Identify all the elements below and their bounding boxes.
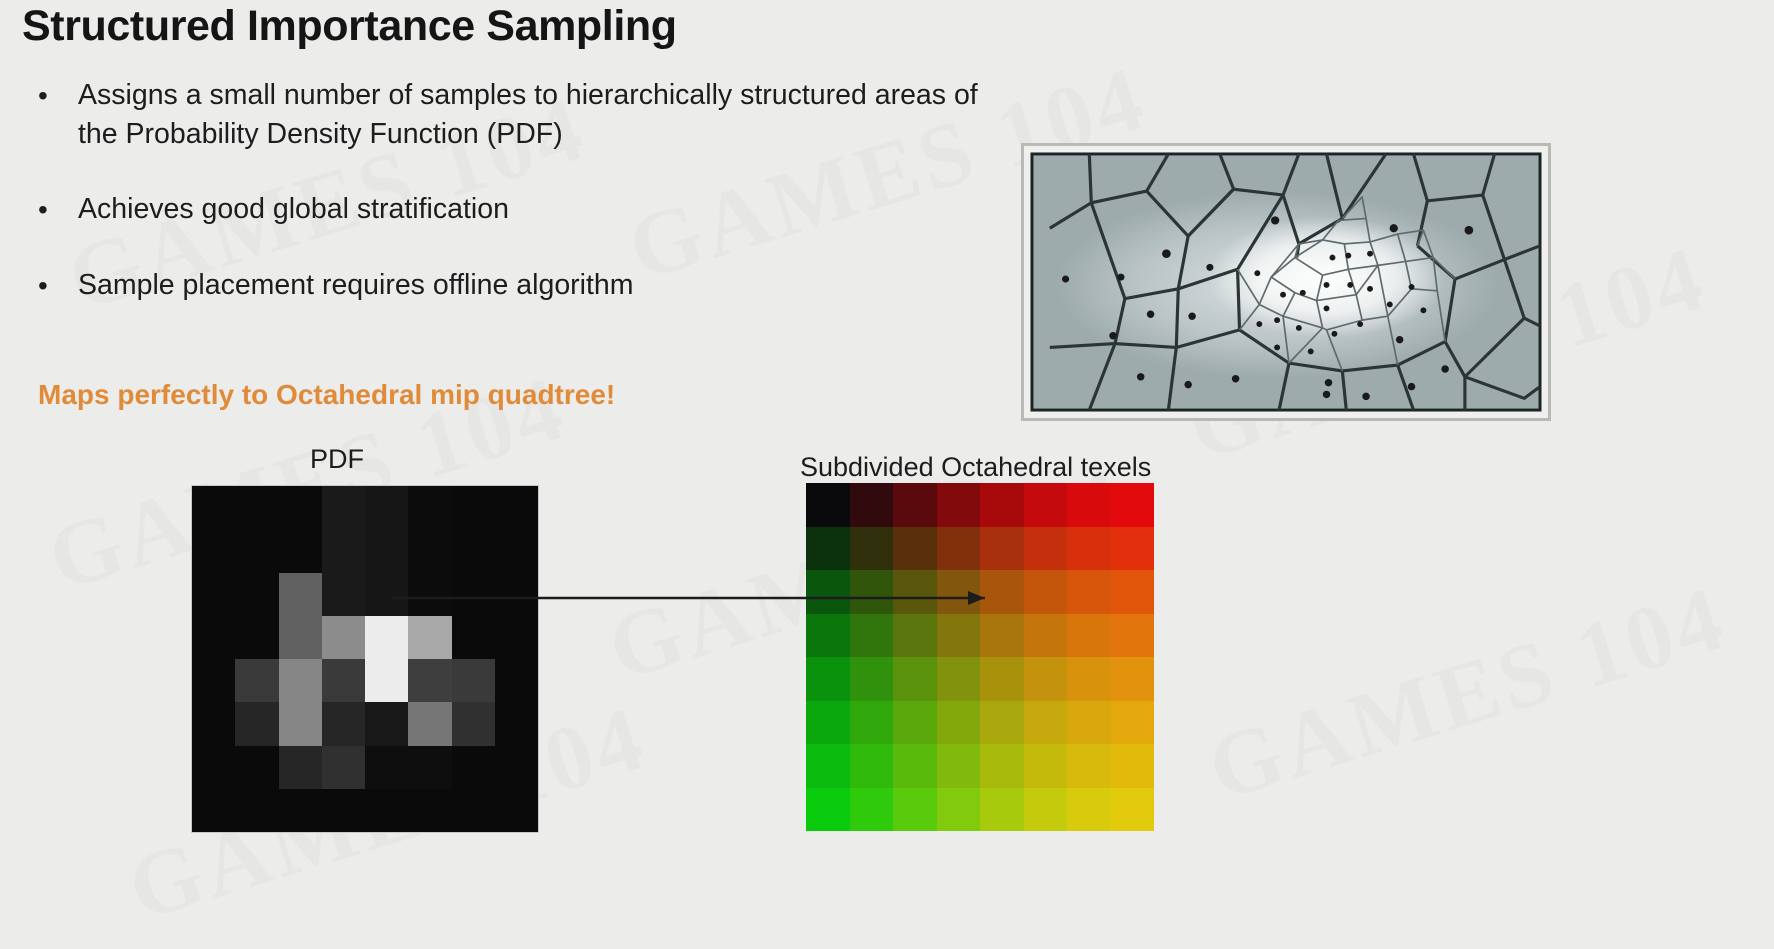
pdf-texel-cell [192,529,235,572]
pdf-texel-cell [322,486,365,529]
octahedral-texel-cell [850,614,894,658]
octahedral-texel-cell [1067,744,1111,788]
pdf-texel-cell [365,789,408,832]
pdf-texel-cell [235,573,278,616]
octahedral-texel-cell [1024,527,1068,571]
octahedral-texel-cell [850,744,894,788]
pdf-texel-cell [408,529,451,572]
pdf-texel-cell [279,746,322,789]
pdf-texel-cell [495,486,538,529]
octahedral-texel-cell [937,570,981,614]
pdf-texel-cell [408,659,451,702]
octahedral-texel-cell [1024,657,1068,701]
pdf-texel-cell [495,616,538,659]
octahedral-texel-cell [937,744,981,788]
pdf-texel-cell [235,486,278,529]
watermark-text: GAMES 104 [1196,564,1738,822]
octahedral-texel-grid [806,483,1154,831]
list-item: • Achieves good global stratification [30,190,1020,229]
pdf-texel-cell [408,573,451,616]
bullet-marker: • [38,76,48,115]
pdf-texel-cell [279,702,322,745]
pdf-texel-cell [192,616,235,659]
list-item-text: Achieves good global stratification [78,193,509,225]
octahedral-texel-cell [980,788,1024,832]
pdf-texel-cell [322,616,365,659]
octahedral-texel-cell [1111,744,1155,788]
pdf-texel-cell [495,573,538,616]
voronoi-diagram-panel [1021,143,1551,421]
pdf-texel-cell [192,573,235,616]
octahedral-texel-cell [1067,788,1111,832]
octahedral-texel-cell [1111,657,1155,701]
bullet-marker: • [38,190,48,229]
pdf-texel-cell [192,789,235,832]
pdf-texel-cell [279,486,322,529]
pdf-texel-cell [408,789,451,832]
octahedral-texel-cell [1067,527,1111,571]
pdf-texel-cell [408,616,451,659]
octahedral-texel-cell [850,701,894,745]
octahedral-texel-cell [937,788,981,832]
octahedral-texel-cell [806,788,850,832]
pdf-texel-cell [322,659,365,702]
pdf-texel-cell [192,702,235,745]
pdf-texel-cell [408,746,451,789]
pdf-texel-cell [365,529,408,572]
octahedral-texel-cell [850,483,894,527]
bullet-marker: • [38,266,48,305]
pdf-texel-cell [192,746,235,789]
pdf-texel-cell [365,659,408,702]
octahedral-texel-cell [1111,527,1155,571]
octahedral-texel-cell [1024,744,1068,788]
octahedral-texel-cell [1067,570,1111,614]
pdf-texel-cell [452,746,495,789]
pdf-texel-cell [452,486,495,529]
pdf-texel-cell [365,573,408,616]
octahedral-texel-cell [1111,614,1155,658]
octahedral-texel-cell [1111,570,1155,614]
octahedral-texel-cell [980,701,1024,745]
voronoi-svg [1030,152,1542,412]
pdf-texel-cell [192,486,235,529]
octahedral-texel-cell [1111,701,1155,745]
pdf-texel-cell [452,573,495,616]
octahedral-texel-cell [980,570,1024,614]
octahedral-texel-cell [806,570,850,614]
pdf-texel-cell [279,529,322,572]
octahedral-texel-cell [806,744,850,788]
pdf-texel-cell [452,616,495,659]
pdf-texel-cell [452,529,495,572]
octahedral-texel-cell [937,657,981,701]
octahedral-texel-cell [1024,788,1068,832]
highlight-callout: Maps perfectly to Octahedral mip quadtre… [38,379,615,411]
octahedral-texel-cell [806,527,850,571]
pdf-texel-cell [495,659,538,702]
list-item-text: Sample placement requires offline algori… [78,269,634,301]
octahedral-texel-cell [893,527,937,571]
octahedral-texel-cell [893,744,937,788]
pdf-texel-cell [279,573,322,616]
octahedral-texel-cell [1067,483,1111,527]
pdf-texel-cell [192,659,235,702]
octahedral-texel-cell [980,744,1024,788]
octahedral-texel-cell [1111,483,1155,527]
pdf-texel-cell [365,486,408,529]
pdf-texel-cell [322,573,365,616]
octahedral-texel-cell [850,657,894,701]
octahedral-texel-cell [980,614,1024,658]
pdf-texel-cell [322,746,365,789]
pdf-texel-cell [408,702,451,745]
octahedral-texel-cell [893,614,937,658]
pdf-texel-cell [365,616,408,659]
pdf-texel-cell [365,702,408,745]
pdf-texel-cell [495,789,538,832]
pdf-texel-cell [452,789,495,832]
octahedral-texel-cell [893,483,937,527]
pdf-texel-cell [235,616,278,659]
pdf-texel-cell [235,702,278,745]
list-item: • Assigns a small number of samples to h… [30,76,1020,154]
octahedral-texel-cell [1067,701,1111,745]
pdf-heatmap-grid [192,486,538,832]
pdf-texel-cell [235,659,278,702]
octahedral-texel-cell [937,614,981,658]
pdf-texel-cell [452,659,495,702]
pdf-figure-label: PDF [310,444,364,475]
pdf-texel-cell [235,789,278,832]
pdf-texel-cell [322,702,365,745]
octahedral-texel-cell [850,788,894,832]
octahedral-texel-cell [1024,614,1068,658]
pdf-texel-cell [365,746,408,789]
octahedral-texel-cell [893,657,937,701]
pdf-texel-cell [322,789,365,832]
pdf-texel-cell [322,529,365,572]
octahedral-texel-cell [850,570,894,614]
texels-figure-label: Subdivided Octahedral texels [800,452,1151,483]
slide-root: GAMES 104GAMES 104GAMES 104GAMES 104GAME… [0,0,1774,949]
octahedral-texel-cell [806,657,850,701]
octahedral-texel-cell [850,527,894,571]
octahedral-texel-cell [1067,614,1111,658]
pdf-texel-cell [279,616,322,659]
octahedral-texel-cell [1024,701,1068,745]
octahedral-texel-cell [980,527,1024,571]
pdf-texel-cell [495,529,538,572]
pdf-texel-cell [279,789,322,832]
octahedral-texel-cell [1111,788,1155,832]
bullet-list: • Assigns a small number of samples to h… [30,76,1020,305]
octahedral-texel-cell [1067,657,1111,701]
octahedral-texel-cell [806,483,850,527]
octahedral-texel-cell [980,483,1024,527]
pdf-texel-cell [235,746,278,789]
page-title: Structured Importance Sampling [22,2,677,51]
list-item: • Sample placement requires offline algo… [30,266,1020,305]
octahedral-texel-cell [980,657,1024,701]
pdf-texel-cell [279,659,322,702]
octahedral-texel-cell [1024,570,1068,614]
list-item-text: Assigns a small number of samples to hie… [78,79,978,150]
octahedral-texel-cell [806,614,850,658]
pdf-texel-cell [408,486,451,529]
pdf-texel-cell [495,702,538,745]
pdf-texel-cell [235,529,278,572]
octahedral-texel-cell [893,788,937,832]
pdf-texel-cell [452,702,495,745]
octahedral-texel-cell [1024,483,1068,527]
pdf-texel-cell [495,746,538,789]
octahedral-texel-cell [937,483,981,527]
octahedral-texel-cell [893,570,937,614]
octahedral-texel-cell [937,527,981,571]
octahedral-texel-cell [806,701,850,745]
octahedral-texel-cell [937,701,981,745]
octahedral-texel-cell [893,701,937,745]
